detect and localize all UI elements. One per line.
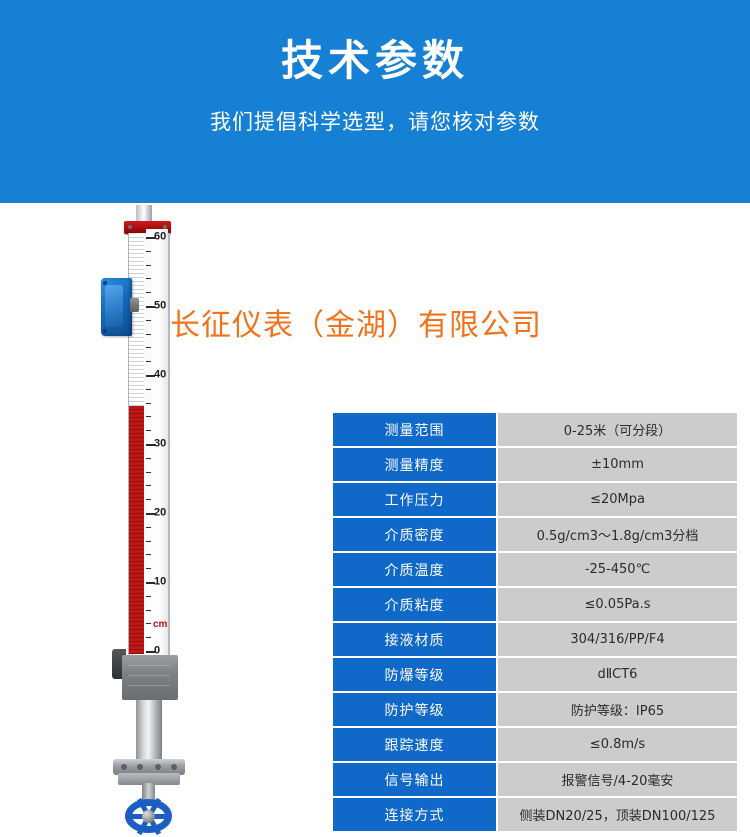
sensor-housing-line [128, 675, 170, 676]
spec-label-cell: 信号输出 [333, 763, 496, 796]
gauge-flag-red-section [129, 406, 144, 654]
scale-tick-minor [146, 265, 151, 266]
gauge-process-pipe [136, 700, 162, 765]
gauge-scale-ticks: 6050403020100cm [146, 229, 168, 661]
spec-value-cell: ≤0.8m/s [498, 728, 737, 761]
spec-value-cell: ±10mm [498, 448, 737, 481]
scale-unit-label: cm [153, 620, 167, 630]
flange-bolt [155, 764, 161, 770]
table-row: 接液材质304/316/PP/F4 [333, 623, 737, 656]
valve-handwheel [122, 795, 175, 837]
scale-tick-minor [146, 596, 151, 597]
scale-tick-minor [146, 610, 151, 611]
table-row: 测量范围0-25米（可分段） [333, 413, 737, 446]
scale-tick-minor [146, 430, 151, 431]
transmitter-front-face [105, 285, 123, 327]
gauge-transmitter-housing [101, 278, 132, 336]
scale-tick-label: 40 [154, 370, 166, 381]
table-row: 跟踪速度≤0.8m/s [333, 728, 737, 761]
scale-tick-label: 10 [154, 577, 166, 588]
page-title: 技术参数 [281, 38, 469, 84]
scale-tick-minor [146, 554, 151, 555]
spec-label-cell: 测量范围 [333, 413, 496, 446]
scale-tick-minor [146, 251, 151, 252]
scale-tick-label: 30 [154, 439, 166, 450]
scale-tick-minor [146, 568, 151, 569]
table-row: 连接方式侧装DN20/25，顶装DN100/125 [333, 798, 737, 831]
transmitter-bolt [103, 329, 107, 333]
spec-value-cell: 0-25米（可分段） [498, 413, 737, 446]
scale-tick-minor [146, 485, 151, 486]
flange-bolt [171, 764, 177, 770]
spec-label-cell: 介质温度 [333, 553, 496, 586]
sensor-housing [122, 655, 178, 700]
spec-value-cell: 侧装DN20/25，顶装DN100/125 [498, 798, 737, 831]
page-header: 技术参数 我们提倡科学选型，请您核对参数 [0, 0, 750, 203]
spec-label-cell: 防爆等级 [333, 658, 496, 691]
flange-bolt [137, 764, 143, 770]
scale-tick-minor [146, 347, 151, 348]
scale-tick-label: 20 [154, 508, 166, 519]
spec-label-cell: 防护等级 [333, 693, 496, 726]
content-area: 6050403020100cm [0, 203, 750, 657]
scale-tick-minor [146, 361, 151, 362]
table-row: 防护等级防护等级：IP65 [333, 693, 737, 726]
product-image-magnetic-level-gauge: 6050403020100cm [0, 203, 325, 657]
spec-label-cell: 测量精度 [333, 448, 496, 481]
spec-value-cell: ≤20Mpa [498, 483, 737, 516]
scale-tick-minor [146, 292, 151, 293]
spec-value-cell: 报警信号/4-20毫安 [498, 763, 737, 796]
spec-label-cell: 接液材质 [333, 623, 496, 656]
scale-tick-label: 60 [154, 232, 166, 243]
spec-value-cell: 304/316/PP/F4 [498, 623, 737, 656]
scale-tick-minor [146, 416, 151, 417]
sensor-housing-line [128, 685, 170, 686]
scale-tick-minor [146, 499, 151, 500]
scale-tick-minor [146, 472, 151, 473]
scale-tick-minor [146, 334, 151, 335]
table-row: 工作压力≤20Mpa [333, 483, 737, 516]
handwheel-hub [142, 810, 155, 823]
scale-tick-label: 50 [154, 301, 166, 312]
flange-bolt [121, 764, 127, 770]
spec-value-cell: ≤0.05Pa.s [498, 588, 737, 621]
scale-tick-minor [146, 278, 151, 279]
table-row: 介质密度0.5g/cm3～1.8g/cm3分档 [333, 518, 737, 551]
transmitter-bolt [103, 281, 107, 285]
scale-tick-minor [146, 403, 151, 404]
scale-tick-minor [146, 389, 151, 390]
table-row: 介质温度-25-450℃ [333, 553, 737, 586]
spec-label-cell: 工作压力 [333, 483, 496, 516]
scale-tick-minor [146, 623, 151, 624]
spec-value-cell: 0.5g/cm3～1.8g/cm3分档 [498, 518, 737, 551]
scale-tick-minor [146, 320, 151, 321]
spec-label-cell: 介质粘度 [333, 588, 496, 621]
sensor-housing-line [128, 665, 170, 666]
spec-value-cell: 防护等级：IP65 [498, 693, 737, 726]
spec-label-cell: 跟踪速度 [333, 728, 496, 761]
spec-value-cell: -25-450℃ [498, 553, 737, 586]
gauge-scale-plate: 6050403020100cm [146, 229, 168, 661]
scale-tick-minor [146, 458, 151, 459]
scale-tick-minor [146, 637, 151, 638]
table-row: 信号输出报警信号/4-20毫安 [333, 763, 737, 796]
scale-tick-minor [146, 527, 151, 528]
page-subtitle: 我们提倡科学选型，请您核对参数 [210, 106, 540, 136]
table-row: 测量精度±10mm [333, 448, 737, 481]
spec-value-cell: dⅡCT6 [498, 658, 737, 691]
transmitter-neck [130, 298, 139, 312]
scale-tick-minor [146, 541, 151, 542]
table-row: 介质粘度≤0.05Pa.s [333, 588, 737, 621]
spec-label-cell: 介质密度 [333, 518, 496, 551]
spec-label-cell: 连接方式 [333, 798, 496, 831]
specification-table: 测量范围0-25米（可分段）测量精度±10mm工作压力≤20Mpa介质密度0.5… [333, 413, 737, 833]
table-row: 防爆等级dⅡCT6 [333, 658, 737, 691]
